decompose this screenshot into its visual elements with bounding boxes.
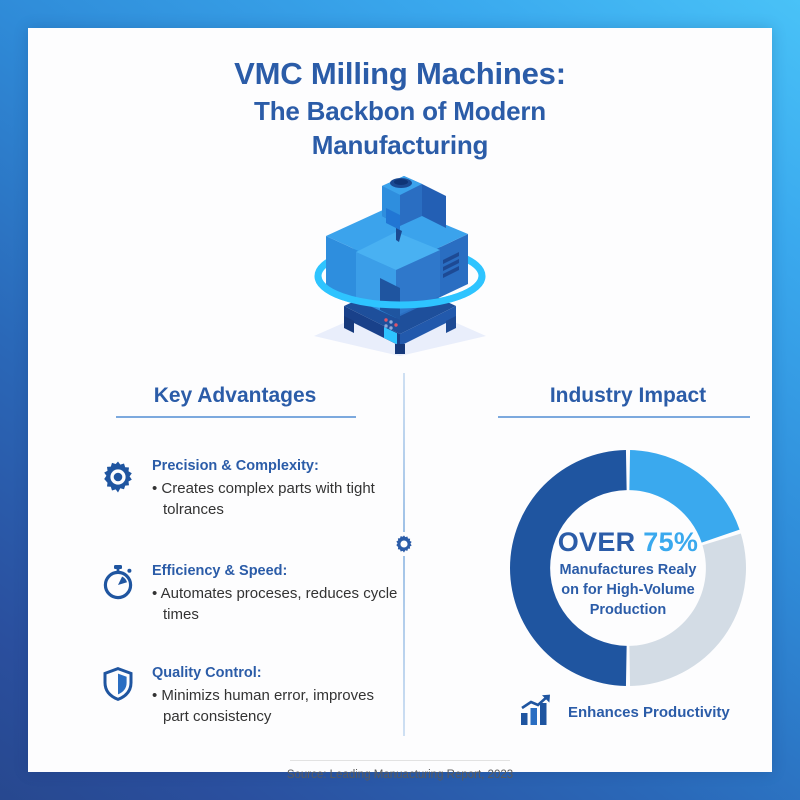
advantage-body: • Creates complex parts with tight tolra… bbox=[152, 478, 400, 520]
advantage-heading: Quality Control: bbox=[152, 663, 400, 683]
advantage-body: • Minimizs human error, improves part co… bbox=[152, 685, 400, 727]
title-line-2: The Backbon of Modern bbox=[28, 94, 772, 128]
donut-segment bbox=[629, 534, 746, 686]
key-advantages-rule bbox=[116, 416, 356, 418]
donut-segment bbox=[510, 450, 627, 686]
advantage-body: • Automates proceses, reduces cycle time… bbox=[152, 583, 400, 625]
footer-divider bbox=[290, 760, 510, 761]
advantage-heading: Precision & Complexity: bbox=[152, 456, 400, 476]
page-title: VMC Milling Machines: The Backbon of Mod… bbox=[28, 54, 772, 162]
infographic-card: VMC Milling Machines: The Backbon of Mod… bbox=[28, 28, 772, 772]
advantage-item-efficiency: Efficiency & Speed: • Automates proceses… bbox=[100, 561, 400, 625]
advantage-item-quality: Quality Control: • Minimizs human error,… bbox=[100, 663, 400, 727]
donut-segment bbox=[629, 450, 739, 543]
enhances-productivity-callout: Enhances Productivity bbox=[520, 694, 730, 731]
industry-impact-rule bbox=[498, 416, 750, 418]
vmc-milling-machine-illustration bbox=[300, 168, 500, 363]
industry-impact-heading: Industry Impact bbox=[486, 384, 770, 408]
enhances-productivity-label: Enhances Productivity bbox=[568, 704, 730, 721]
stopwatch-icon bbox=[100, 561, 138, 605]
advantage-item-precision: Precision & Complexity: • Creates comple… bbox=[100, 456, 400, 520]
infographic-frame: VMC Milling Machines: The Backbon of Mod… bbox=[0, 0, 800, 800]
gear-icon bbox=[100, 456, 138, 500]
bar-chart-growth-icon bbox=[520, 694, 554, 731]
source-footnote: Source: Leading Manuacturing Report, 202… bbox=[28, 769, 772, 781]
title-line-3: Manufacturing bbox=[28, 128, 772, 162]
gear-icon bbox=[392, 532, 416, 556]
key-advantages-heading: Key Advantages bbox=[100, 384, 370, 408]
advantage-heading: Efficiency & Speed: bbox=[152, 561, 400, 581]
shield-icon bbox=[100, 663, 138, 707]
industry-impact-donut-chart bbox=[506, 446, 750, 690]
title-line-1: VMC Milling Machines: bbox=[28, 54, 772, 94]
